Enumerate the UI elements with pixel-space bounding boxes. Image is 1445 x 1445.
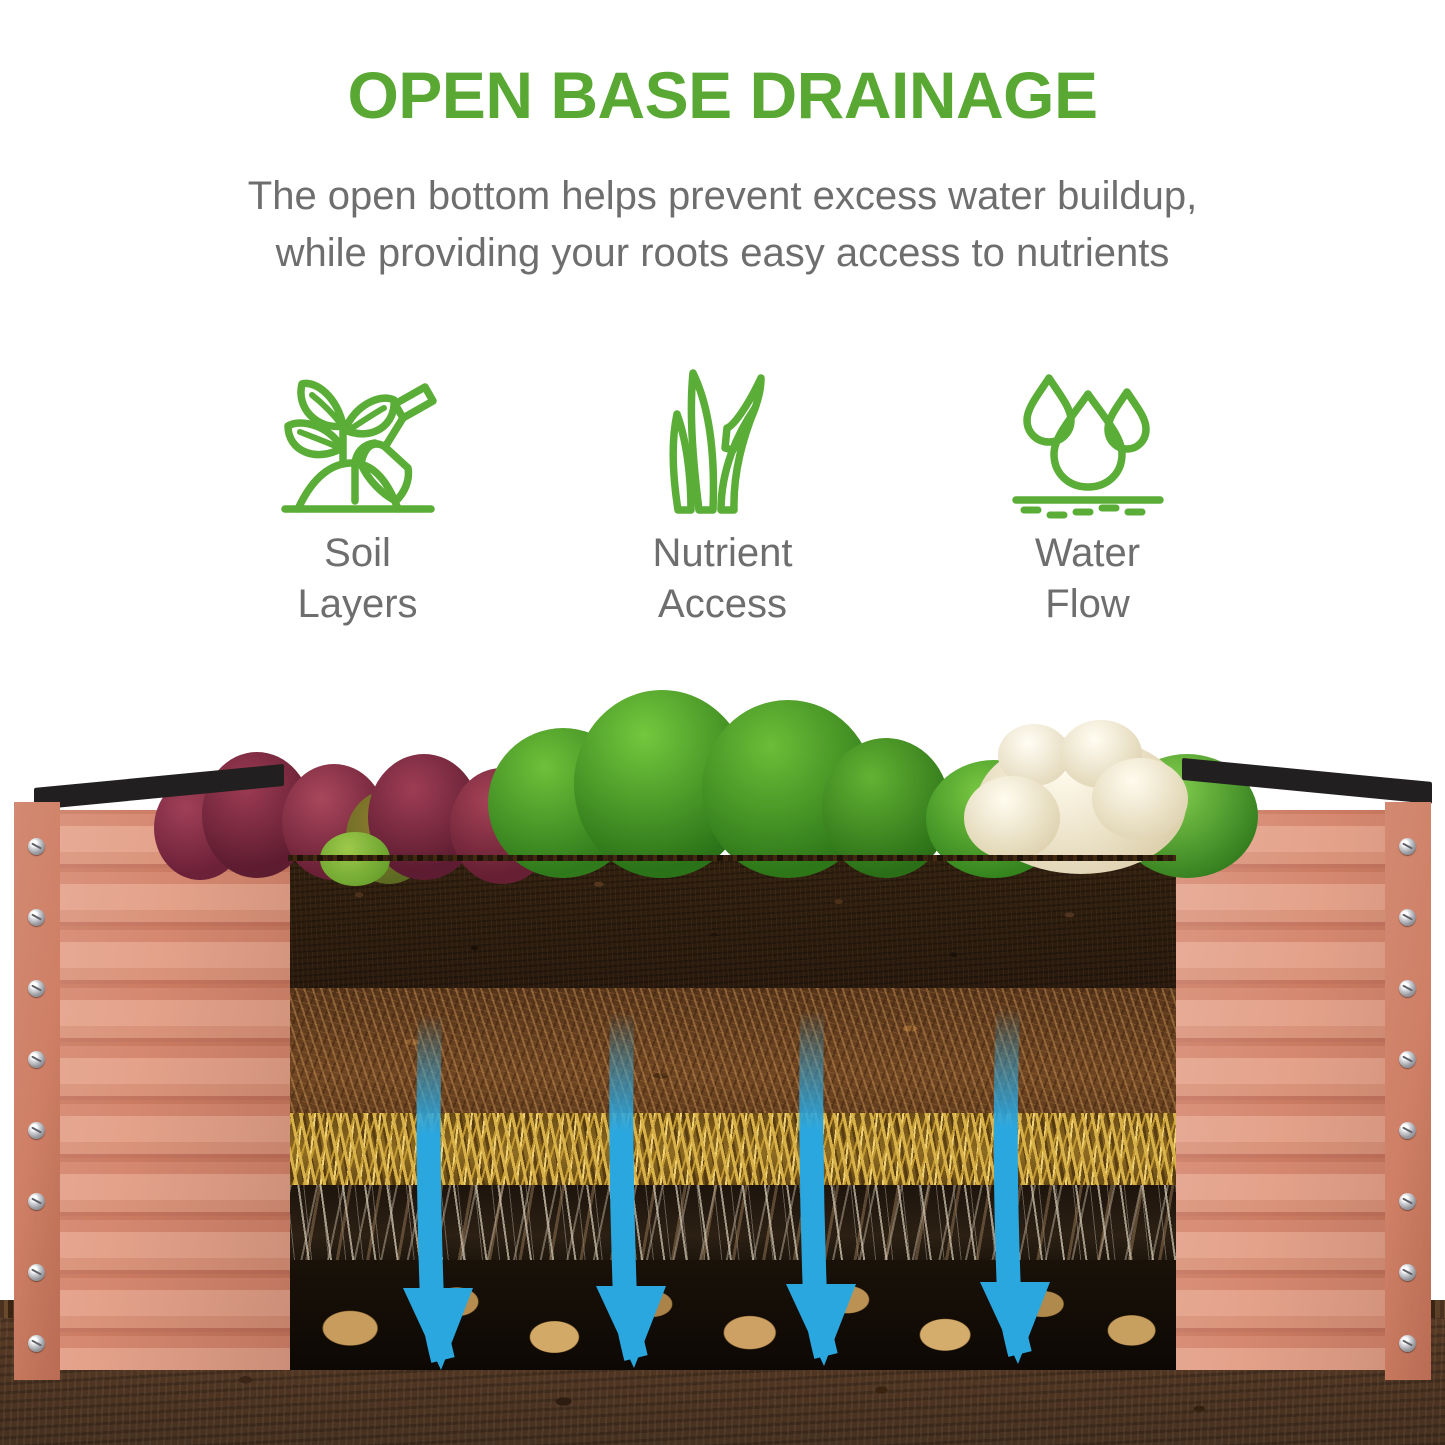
product-cutaway-photo	[0, 660, 1445, 1445]
water-flow-arrow-4	[980, 1008, 1050, 1364]
feature-row: Soil Layers Nutrient Acces	[175, 360, 1270, 650]
page-title: OPEN BASE DRAINAGE	[0, 62, 1445, 128]
feature-item-nutrient-access: Nutrient Access	[540, 360, 905, 650]
feature-label-line-2: Flow	[1035, 579, 1140, 630]
feature-label-line-1: Water	[1035, 528, 1140, 579]
page-subtitle-line-1: The open bottom helps prevent excess wat…	[80, 168, 1365, 225]
seedling-shovel-icon	[272, 360, 444, 528]
feature-item-soil-layers: Soil Layers	[175, 360, 540, 650]
corner-screw	[28, 1335, 45, 1352]
corner-screw	[28, 980, 45, 997]
infographic-canvas: OPEN BASE DRAINAGE The open bottom helps…	[0, 0, 1445, 1445]
grass-blades-icon	[657, 360, 789, 528]
corner-screw	[28, 909, 45, 926]
corner-screw	[28, 838, 45, 855]
page-subtitle: The open bottom helps prevent excess wat…	[80, 168, 1365, 282]
feature-item-water-flow: Water Flow	[905, 360, 1270, 650]
bed-corner-post-left	[14, 802, 60, 1380]
corner-screw	[1399, 1051, 1416, 1068]
corner-screw	[1399, 1193, 1416, 1210]
corner-screw	[1399, 980, 1416, 997]
corner-screw	[28, 1051, 45, 1068]
corner-screw	[1399, 838, 1416, 855]
feature-label-line-2: Layers	[297, 579, 417, 630]
feature-label-water-flow: Water Flow	[1035, 528, 1140, 630]
corner-screw	[1399, 1264, 1416, 1281]
water-flow-arrow-1	[403, 1015, 473, 1370]
bed-corner-post-right	[1385, 802, 1431, 1380]
feature-label-nutrient-access: Nutrient Access	[652, 528, 792, 630]
feature-label-soil-layers: Soil Layers	[297, 528, 417, 630]
corner-screw	[1399, 909, 1416, 926]
corner-screw	[28, 1264, 45, 1281]
corner-screw	[1399, 1122, 1416, 1139]
feature-label-line-2: Access	[652, 579, 792, 630]
page-subtitle-line-2: while providing your roots easy access t…	[80, 225, 1365, 282]
feature-label-line-1: Soil	[297, 528, 417, 579]
feature-label-line-1: Nutrient	[652, 528, 792, 579]
corner-screw	[28, 1193, 45, 1210]
water-flow-arrow-2	[596, 1012, 666, 1368]
corner-screw	[1399, 1335, 1416, 1352]
water-flow-arrow-3	[786, 1010, 856, 1366]
water-droplets-icon	[1008, 360, 1168, 528]
corner-screw	[28, 1122, 45, 1139]
